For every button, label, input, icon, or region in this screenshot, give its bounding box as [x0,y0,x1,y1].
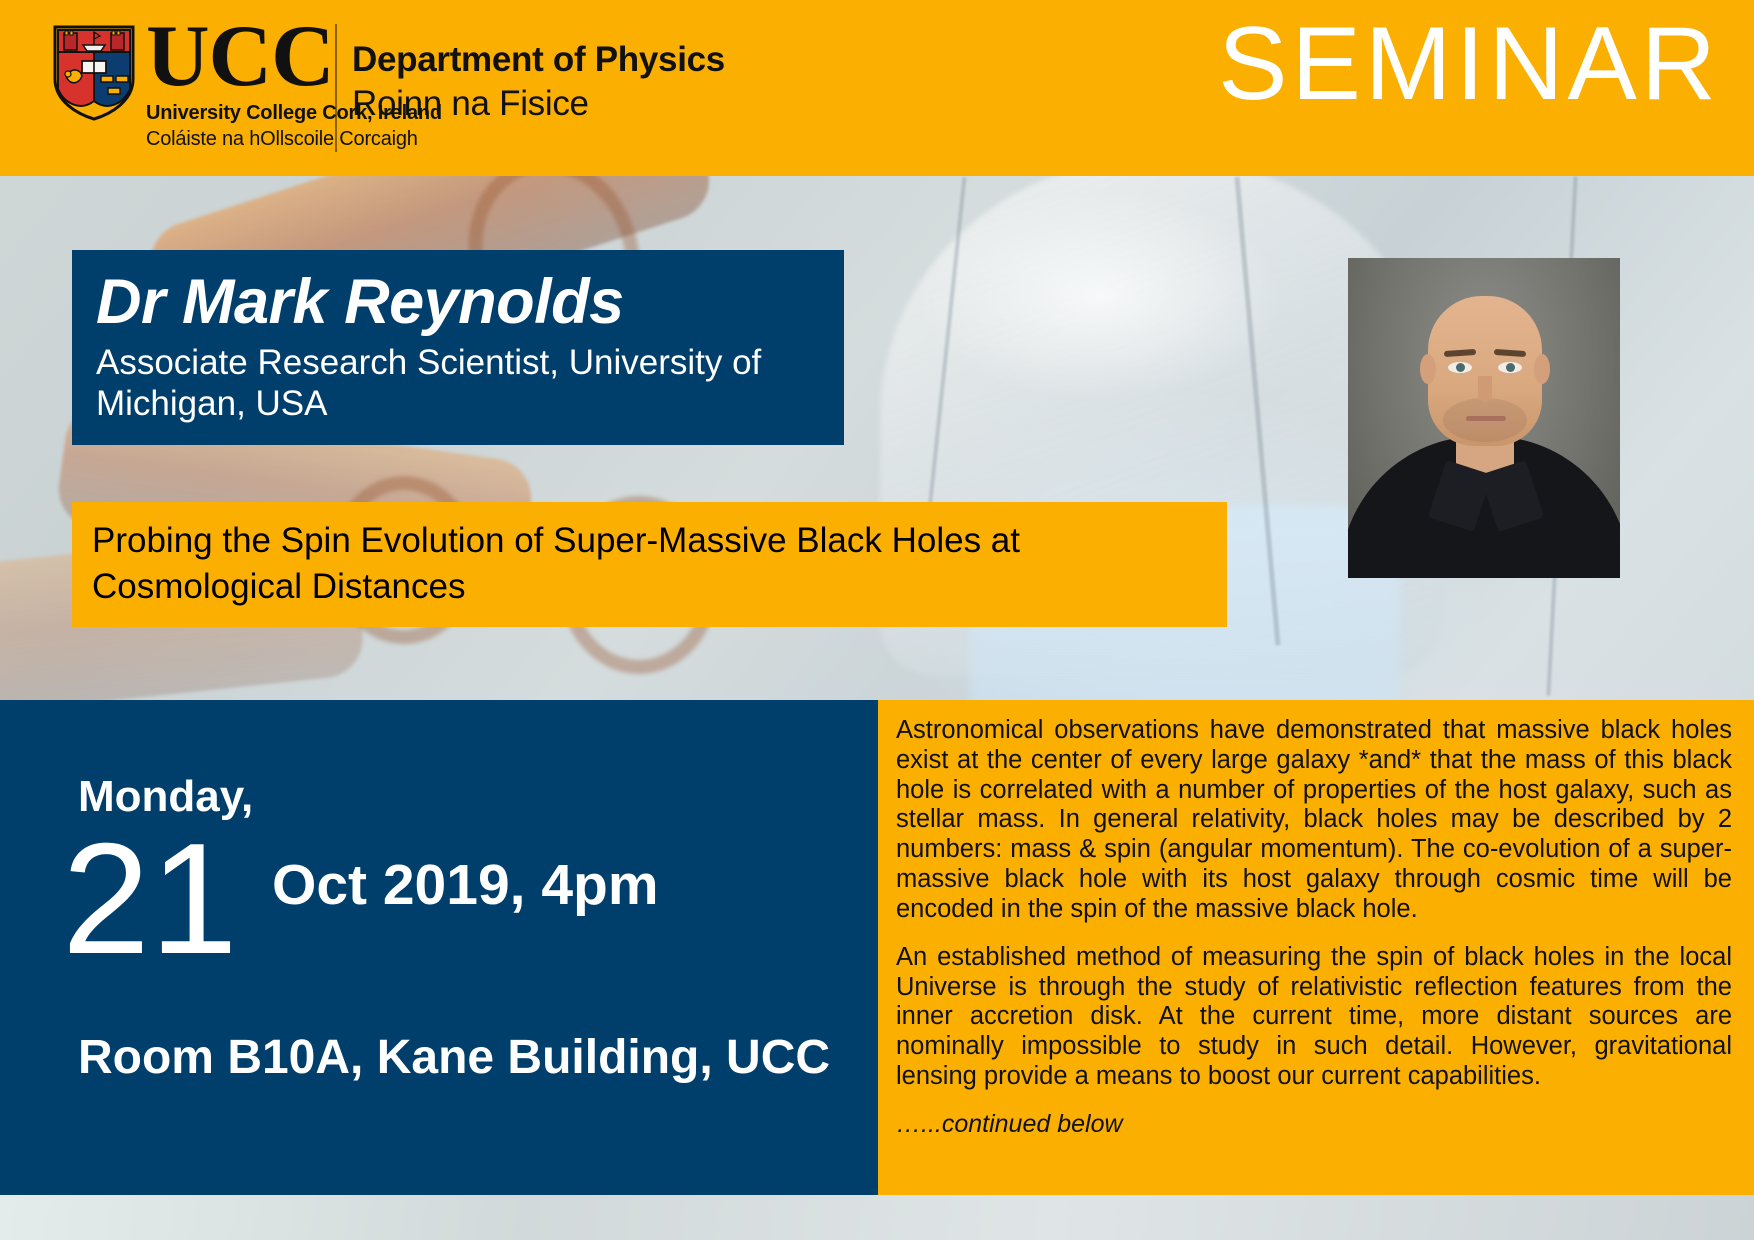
seminar-poster: UCC University College Cork, Ireland Col… [0,0,1754,1240]
talk-title-text: Probing the Spin Evolution of Super-Mass… [92,518,1207,609]
event-details-panel: Monday, 21 Oct 2019, 4pm Room B10A, Kane… [0,700,878,1195]
event-month-year-time: Oct 2019, 4pm [272,852,659,918]
event-venue: Room B10A, Kane Building, UCC [78,1030,830,1085]
tree-branches [1600,296,1750,716]
seminar-banner-title: SEMINAR [1218,5,1720,124]
department-name-english: Department of Physics [352,40,725,80]
abstract-paragraph-2: An established method of measuring the s… [896,943,1732,1092]
talk-title-box: Probing the Spin Evolution of Super-Mass… [72,502,1227,627]
portrait-mouth [1466,416,1506,421]
speaker-affiliation: Associate Research Scientist, University… [96,342,820,425]
portrait-ear-left [1420,354,1436,384]
abstract-paragraph-1: Astronomical observations have demonstra… [896,716,1732,925]
department-block: Department of Physics Roinn na Fisice [352,40,725,124]
portrait-nose [1478,376,1492,402]
department-name-irish: Roinn na Fisice [352,84,725,124]
portrait-pupil-left [1456,363,1465,372]
portrait-pupil-right [1506,363,1515,372]
header-divider [335,24,337,152]
ucc-name-irish: Coláiste na hOllscoile Corcaigh [146,128,442,151]
ucc-crest-icon [52,24,136,122]
event-day-number: 21 [62,820,238,978]
bottom-background-strip [0,1195,1754,1240]
abstract-continued-note: …...continued below [896,1110,1732,1139]
speaker-portrait [1348,258,1620,578]
portrait-ear-right [1534,354,1550,384]
header-band: UCC University College Cork, Ireland Col… [0,0,1754,176]
speaker-name: Dr Mark Reynolds [96,268,844,336]
abstract-panel: Astronomical observations have demonstra… [878,700,1754,1195]
speaker-box: Dr Mark Reynolds Associate Research Scie… [72,250,844,445]
